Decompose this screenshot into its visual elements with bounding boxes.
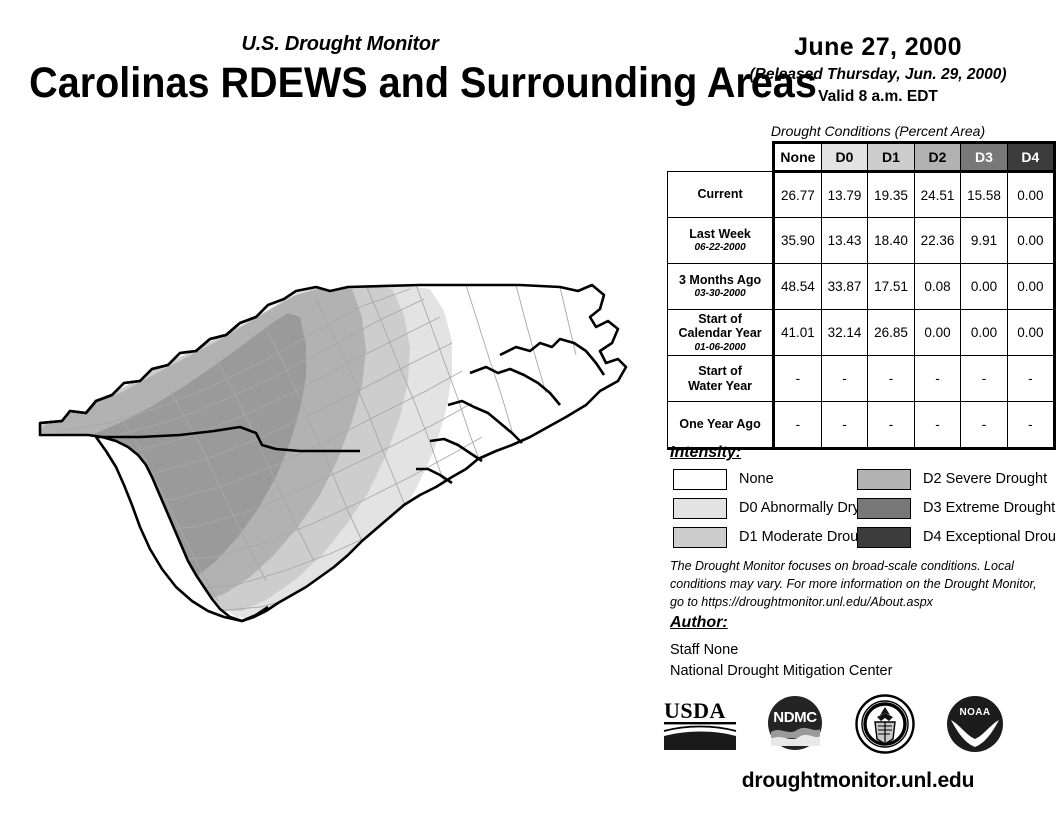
noaa-logo: NOAA bbox=[947, 696, 1003, 752]
table-cell: - bbox=[821, 356, 868, 402]
map-svg bbox=[0, 255, 660, 655]
table-header-row: None D0 D1 D2 D3 D4 bbox=[668, 143, 1055, 172]
table-cell: - bbox=[774, 356, 822, 402]
row-label: Last Week06-22-2000 bbox=[668, 218, 774, 264]
column-header-d1: D1 bbox=[868, 143, 915, 172]
author-organization: National Drought Mitigation Center bbox=[670, 661, 892, 682]
legend-column-right: D2 Severe DroughtD3 Extreme DroughtD4 Ex… bbox=[857, 468, 1056, 555]
table-cell: 26.77 bbox=[774, 172, 822, 218]
column-header-d4: D4 bbox=[1007, 143, 1054, 172]
table-cell: - bbox=[1007, 356, 1054, 402]
table-cell: 9.91 bbox=[961, 218, 1008, 264]
row-label-date: 06-22-2000 bbox=[671, 242, 769, 254]
row-label: Start ofWater Year bbox=[668, 356, 774, 402]
row-label: Start ofCalendar Year01-06-2000 bbox=[668, 310, 774, 356]
legend-swatch bbox=[673, 498, 727, 519]
row-label-date: 01-06-2000 bbox=[671, 342, 769, 354]
legend-item: D1 Moderate Drought bbox=[673, 526, 878, 548]
table-cell: 0.00 bbox=[1007, 310, 1054, 356]
table-row: Start ofCalendar Year01-06-200041.0132.1… bbox=[668, 310, 1055, 356]
drought-map[interactable] bbox=[0, 255, 660, 655]
table-cell: 13.79 bbox=[821, 172, 868, 218]
svg-text:USDA: USDA bbox=[664, 698, 726, 723]
header-subtitle: U.S. Drought Monitor bbox=[0, 33, 680, 56]
site-url[interactable]: droughtmonitor.unl.edu bbox=[660, 769, 1056, 793]
usdc-seal-logo bbox=[857, 696, 914, 753]
table-cell: - bbox=[774, 402, 822, 449]
row-label-date: 03-30-2000 bbox=[671, 288, 769, 300]
table-cell: - bbox=[914, 402, 961, 449]
table-cell: 32.14 bbox=[821, 310, 868, 356]
legend-swatch bbox=[673, 527, 727, 548]
table-cell: 18.40 bbox=[868, 218, 915, 264]
map-drought-bands bbox=[0, 255, 660, 655]
legend-label: None bbox=[739, 471, 774, 487]
table-cell: 13.43 bbox=[821, 218, 868, 264]
legend-label: D3 Extreme Drought bbox=[923, 500, 1055, 516]
legend-label: D2 Severe Drought bbox=[923, 471, 1047, 487]
svg-text:NDMC: NDMC bbox=[773, 709, 817, 726]
row-label: Current bbox=[668, 172, 774, 218]
column-header-d2: D2 bbox=[914, 143, 961, 172]
legend-item: None bbox=[673, 468, 878, 490]
table-cell: - bbox=[868, 402, 915, 449]
table-cell: 15.58 bbox=[961, 172, 1008, 218]
author-name: Staff None bbox=[670, 640, 892, 661]
table-cell: 24.51 bbox=[914, 172, 961, 218]
table-caption: Drought Conditions (Percent Area) bbox=[700, 123, 1056, 139]
row-label: 3 Months Ago03-30-2000 bbox=[668, 264, 774, 310]
table-cell: 35.90 bbox=[774, 218, 822, 264]
row-label: One Year Ago bbox=[668, 402, 774, 449]
table-cell: 17.51 bbox=[868, 264, 915, 310]
legend-swatch bbox=[673, 469, 727, 490]
legend-item: D2 Severe Drought bbox=[857, 468, 1056, 490]
table-row: One Year Ago------ bbox=[668, 402, 1055, 449]
legend-title: Intensity: bbox=[670, 444, 741, 462]
table-row: 3 Months Ago03-30-200048.5433.8717.510.0… bbox=[668, 264, 1055, 310]
table-cell: 19.35 bbox=[868, 172, 915, 218]
table-row: Start ofWater Year------ bbox=[668, 356, 1055, 402]
table-cell: 0.00 bbox=[961, 264, 1008, 310]
table-cell: 26.85 bbox=[868, 310, 915, 356]
legend-swatch bbox=[857, 498, 911, 519]
logo-row: USDA NDMC NOAA bbox=[660, 694, 1050, 756]
valid-date: June 27, 2000 bbox=[700, 33, 1056, 62]
table-row: Last Week06-22-200035.9013.4318.4022.369… bbox=[668, 218, 1055, 264]
legend-label: D4 Exceptional Drought bbox=[923, 529, 1056, 545]
usda-logo: USDA bbox=[664, 698, 736, 750]
table-cell: 0.08 bbox=[914, 264, 961, 310]
legend-column-left: NoneD0 Abnormally DryD1 Moderate Drought bbox=[673, 468, 878, 555]
table-corner-cell bbox=[668, 143, 774, 172]
column-header-none: None bbox=[774, 143, 822, 172]
table-cell: - bbox=[961, 356, 1008, 402]
released-date: (Released Thursday, Jun. 29, 2000) bbox=[700, 66, 1056, 84]
table-cell: 41.01 bbox=[774, 310, 822, 356]
table-cell: 0.00 bbox=[961, 310, 1008, 356]
legend-swatch bbox=[857, 469, 911, 490]
table-cell: - bbox=[1007, 402, 1054, 449]
column-header-d3: D3 bbox=[961, 143, 1008, 172]
legend-label: D0 Abnormally Dry bbox=[739, 500, 860, 516]
legend-item: D4 Exceptional Drought bbox=[857, 526, 1056, 548]
ndmc-logo: NDMC bbox=[768, 696, 822, 750]
table-cell: - bbox=[868, 356, 915, 402]
table-cell: 0.00 bbox=[1007, 264, 1054, 310]
drought-conditions-table: None D0 D1 D2 D3 D4 Current26.7713.7919.… bbox=[667, 141, 1056, 450]
disclaimer-text: The Drought Monitor focuses on broad-sca… bbox=[670, 557, 1050, 611]
legend-item: D3 Extreme Drought bbox=[857, 497, 1056, 519]
table-row: Current26.7713.7919.3524.5115.580.00 bbox=[668, 172, 1055, 218]
table-cell: 0.00 bbox=[914, 310, 961, 356]
valid-time: Valid 8 a.m. EDT bbox=[700, 88, 1056, 106]
author-block: Staff None National Drought Mitigation C… bbox=[670, 640, 892, 682]
table-body: Current26.7713.7919.3524.5115.580.00Last… bbox=[668, 172, 1055, 449]
table-cell: - bbox=[914, 356, 961, 402]
author-label: Author: bbox=[670, 614, 728, 632]
table-cell: 48.54 bbox=[774, 264, 822, 310]
legend-swatch bbox=[857, 527, 911, 548]
legend-item: D0 Abnormally Dry bbox=[673, 497, 878, 519]
logos-svg: USDA NDMC NOAA bbox=[660, 694, 1050, 756]
table-cell: - bbox=[961, 402, 1008, 449]
table-cell: 0.00 bbox=[1007, 218, 1054, 264]
column-header-d0: D0 bbox=[821, 143, 868, 172]
table-cell: 0.00 bbox=[1007, 172, 1054, 218]
svg-text:NOAA: NOAA bbox=[959, 707, 990, 718]
table-cell: 22.36 bbox=[914, 218, 961, 264]
table-cell: 33.87 bbox=[821, 264, 868, 310]
table-cell: - bbox=[821, 402, 868, 449]
